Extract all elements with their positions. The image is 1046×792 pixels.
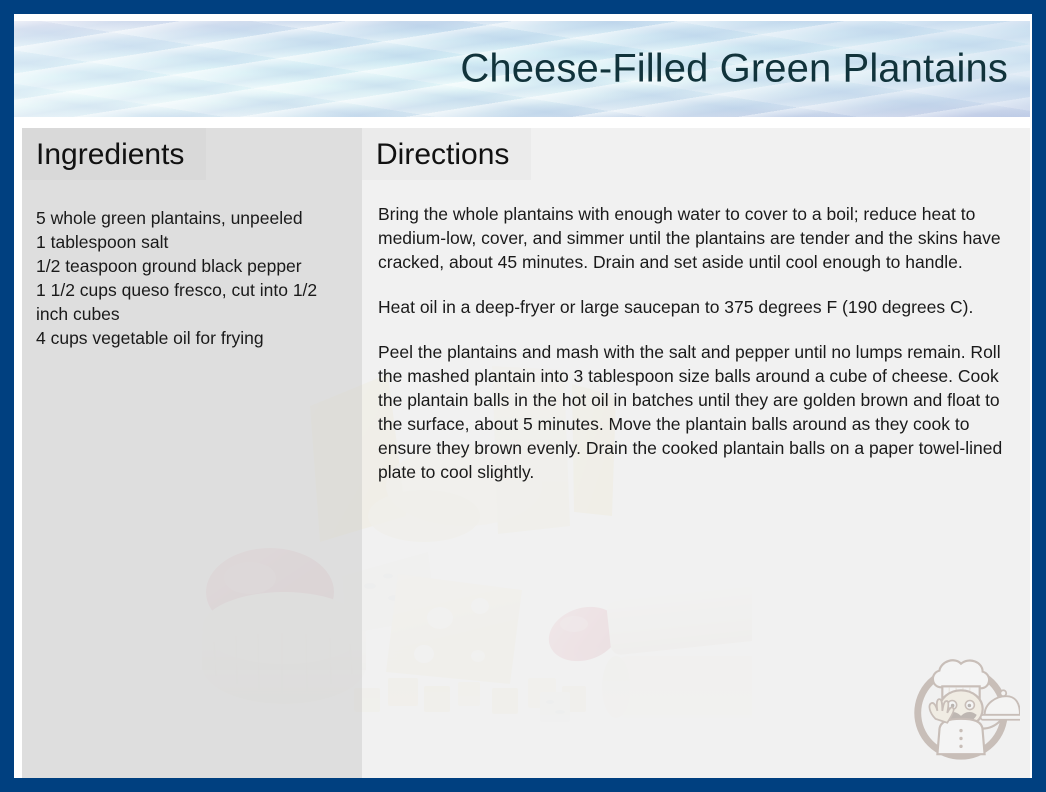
list-item: 1/2 teaspoon ground black pepper (36, 254, 348, 278)
directions-text: Bring the whole plantains with enough wa… (362, 180, 1030, 484)
list-item: 1 tablespoon salt (36, 230, 348, 254)
list-item: 5 whole green plantains, unpeeled (36, 206, 348, 230)
directions-panel: Directions Bring the whole plantains wit… (362, 128, 1030, 778)
ingredients-list: 5 whole green plantains, unpeeled 1 tabl… (22, 180, 362, 350)
list-item: 1 1/2 cups queso fresco, cut into 1/2 in… (36, 278, 348, 326)
direction-paragraph: Bring the whole plantains with enough wa… (378, 202, 1014, 274)
ingredients-heading: Ingredients (22, 128, 206, 180)
directions-heading: Directions (362, 128, 531, 180)
page-title: Cheese-Filled Green Plantains (460, 47, 1008, 92)
ingredients-panel: Ingredients 5 whole green plantains, unp… (22, 128, 362, 778)
title-banner: Cheese-Filled Green Plantains (14, 21, 1030, 117)
list-item: 4 cups vegetable oil for frying (36, 326, 348, 350)
direction-paragraph: Peel the plantains and mash with the sal… (378, 340, 1014, 484)
recipe-page: Cheese-Filled Green Plantains (14, 14, 1032, 778)
recipe-card: Cheese-Filled Green Plantains (0, 0, 1046, 792)
direction-paragraph: Heat oil in a deep-fryer or large saucep… (378, 295, 1014, 319)
